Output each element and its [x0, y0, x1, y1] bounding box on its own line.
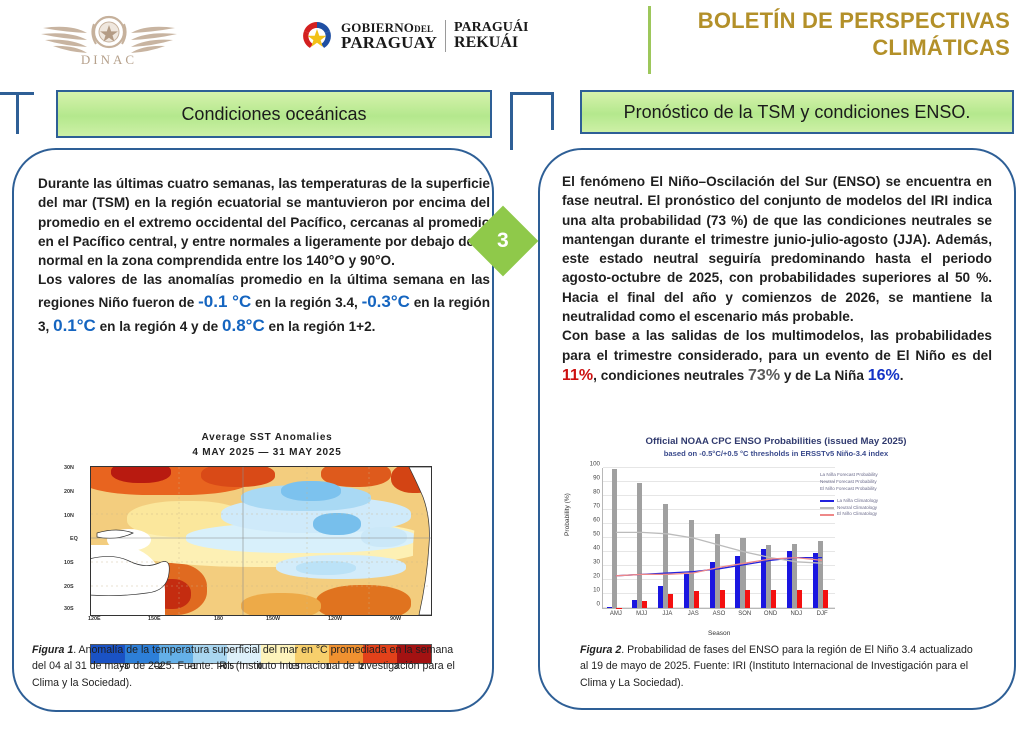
enso-forecast-text: El fenómeno El Niño–Oscilación del Sur (… [562, 172, 992, 388]
ytick-70: 70 [593, 503, 600, 510]
bar-SON-el-nino [745, 590, 750, 608]
sst-anomaly-field [90, 466, 432, 616]
gridline-90 [603, 481, 835, 482]
legend-neutral-clim-row: Neutral Climatology [820, 505, 980, 512]
section-banner-forecast-label: Pronóstico de la TSM y condiciones ENSO. [624, 102, 971, 123]
enso-forecast-panel: El fenómeno El Niño–Oscilación del Sur (… [538, 148, 1016, 710]
sst-xtick-120W: 120W [328, 616, 342, 622]
ytick-90: 90 [593, 475, 600, 482]
legend-el-nino-clim-row: El Niño Climatology [820, 511, 980, 518]
enso-chart-title: Official NOAA CPC ENSO Probabilities (is… [558, 436, 994, 447]
gobierno-line2: PARAGUAY [341, 34, 437, 51]
xtick-JAS: JAS [688, 611, 699, 617]
sst-xtick-90W: 90W [390, 616, 401, 622]
enso-p2-seg-d: . [900, 368, 904, 383]
legend-neutral-clim-swatch [820, 507, 834, 508]
sst-ytick-30S: 30S [64, 606, 74, 612]
figure-2-caption: Figura 2. Probabilidad de fases del ENSO… [580, 642, 980, 691]
prob-neutral: 73% [748, 367, 780, 384]
gridline-100 [603, 467, 835, 468]
legend-neutral-clim: Neutral Climatology [837, 505, 877, 512]
xtick-SON: SON [738, 611, 751, 617]
ytick-40: 40 [593, 545, 600, 552]
title-accent-rule [648, 6, 651, 74]
logo-divider [445, 20, 446, 52]
bracket-connector-left [0, 92, 34, 134]
enso-chart-ylabel: Probability (%) [564, 493, 571, 536]
ytick-100: 100 [590, 461, 600, 468]
figure-1-caption: Figura 1. Anomalía de la temperatura sup… [32, 642, 462, 691]
bar-JJA-neutral [663, 504, 668, 608]
oceanic-p2-seg-b: en la región 3.4, [251, 295, 361, 310]
sst-ytick-10N: 10N [64, 513, 74, 519]
bar-JJA-el-nino [668, 594, 673, 608]
sst-map-title-line2: 4 MAY 2025 — 31 MAY 2025 [62, 445, 472, 460]
xtick-DJF: DJF [817, 611, 828, 617]
prob-el-nino: 11% [562, 367, 593, 384]
bar-NDJ-el-nino [797, 590, 802, 608]
figure-enso-probabilities-chart: Official NOAA CPC ENSO Probabilities (is… [558, 436, 994, 664]
legend-la-nina-clim: La Niña Climatology [837, 498, 878, 505]
sst-xtick-150W: 150W [266, 616, 280, 622]
xtick-OND: OND [764, 611, 777, 617]
paraguay-emblem-icon [300, 19, 334, 53]
legend-climatology-group: La Niña Climatology Neutral Climatology … [820, 498, 980, 519]
paraguai-line2: REKUÁI [454, 35, 528, 51]
dinac-wings-icon [39, 10, 179, 56]
section-banner-oceanic-label: Condiciones oceánicas [181, 104, 366, 125]
ytick-80: 80 [593, 489, 600, 496]
enso-chart-plot-area: 1009080706050403020100AMJMJJJJAJASASOSON… [602, 468, 835, 609]
ytick-0: 0 [597, 601, 600, 608]
sst-map-wrapper: 30N 20N 10N EQ 10S 20S 30S 120E 150E 180… [62, 466, 472, 616]
legend-la-nina-clim-row: La Niña Climatology [820, 498, 980, 505]
enso-p2-seg-c: y de La Niña [780, 368, 868, 383]
section-banner-oceanic[interactable]: Condiciones oceánicas [56, 90, 492, 138]
anomaly-value-region4: 0.1°C [53, 316, 96, 335]
paraguai-wordmark: PARAGUÁI REKUÁI [454, 21, 528, 51]
bracket-connector-right [510, 92, 558, 134]
sst-xtick-180: 180 [214, 616, 223, 622]
ytick-10: 10 [593, 587, 600, 594]
sst-ytick-20S: 20S [64, 584, 74, 590]
oceanic-conditions-text: Durante las últimas cuatro semanas, las … [38, 174, 490, 338]
enso-chart-legend: La Niña Forecast Probability Neutral For… [820, 472, 980, 518]
bar-AMJ-neutral [612, 469, 617, 608]
bar-OND-el-nino [771, 590, 776, 608]
bar-MJJ-neutral [637, 483, 642, 608]
page-header: DINAC GOBIERNODEL PARAGUAY PA [0, 0, 1024, 88]
gobierno-wordmark: GOBIERNODEL PARAGUAY [341, 21, 437, 51]
oceanic-paragraph-2: Los valores de las anomalías promedio en… [38, 270, 490, 338]
oceanic-conditions-panel: Durante las últimas cuatro semanas, las … [12, 148, 494, 712]
enso-paragraph-2: Con base a las salidas de los multimodel… [562, 326, 992, 387]
bar-ASO-el-nino [720, 590, 725, 608]
section-banner-forecast[interactable]: Pronóstico de la TSM y condiciones ENSO. [580, 90, 1014, 134]
sst-ytick-10S: 10S [64, 560, 74, 566]
xtick-NDJ: NDJ [790, 611, 802, 617]
ytick-20: 20 [593, 573, 600, 580]
legend-forecast-group: La Niña Forecast Probability Neutral For… [820, 472, 980, 493]
enso-chart-xlabel: Season [708, 630, 730, 637]
bar-DJF-el-nino [823, 590, 828, 608]
bar-JAS-el-nino [694, 591, 699, 608]
sst-ytick-EQ: EQ [70, 536, 78, 542]
sst-xtick-120E: 120E [88, 616, 101, 622]
enso-chart-subtitle: based on -0.5°C/+0.5 °C thresholds in ER… [558, 449, 994, 458]
bulletin-title-block: BOLETÍN DE PERSPECTIVAS CLIMÁTICAS [648, 4, 1010, 78]
page-number-badge-label: 3 [497, 229, 509, 253]
legend-el-nino-clim-swatch [820, 514, 834, 515]
figure-sst-anomaly-map: Average SST Anomalies 4 MAY 2025 — 31 MA… [62, 430, 472, 662]
anomaly-value-region34: -0.1 °C [198, 292, 251, 311]
xtick-ASO: ASO [713, 611, 726, 617]
anomaly-value-region3: -0.3°C [362, 292, 410, 311]
ytick-50: 50 [593, 531, 600, 538]
anomaly-value-region12: 0.8°C [222, 316, 265, 335]
bar-MJJ-el-nino [642, 601, 647, 608]
legend-el-nino-forecast: El Niño Forecast Probability [820, 486, 980, 493]
ytick-60: 60 [593, 517, 600, 524]
bar-AMJ-el-nino [616, 608, 621, 609]
page-title: BOLETÍN DE PERSPECTIVAS CLIMÁTICAS [666, 8, 1010, 62]
figure-1-caption-text: . Anomalía de la temperatura superficial… [32, 644, 455, 689]
sst-map-title: Average SST Anomalies 4 MAY 2025 — 31 MA… [62, 430, 472, 460]
sst-ytick-30N: 30N [64, 465, 74, 471]
sst-map-title-line1: Average SST Anomalies [62, 430, 472, 445]
xtick-AMJ: AMJ [610, 611, 622, 617]
figure-2-caption-text: . Probabilidad de fases del ENSO para la… [580, 644, 973, 689]
xtick-MJJ: MJJ [636, 611, 647, 617]
sst-ytick-20N: 20N [64, 489, 74, 495]
enso-paragraph-1: El fenómeno El Niño–Oscilación del Sur (… [562, 172, 992, 326]
legend-neutral-forecast: Neutral Forecast Probability [820, 479, 980, 486]
enso-p2-seg-b: , condiciones neutrales [593, 368, 748, 383]
sst-xtick-150E: 150E [148, 616, 161, 622]
figure-2-caption-label: Figura 2 [580, 644, 621, 656]
dinac-logo: DINAC [36, 2, 182, 76]
ytick-30: 30 [593, 559, 600, 566]
oceanic-p2-seg-e: en la región 1+2. [265, 319, 376, 334]
legend-la-nina-forecast: La Niña Forecast Probability [820, 472, 980, 479]
oceanic-p2-seg-d: en la región 4 y de [96, 319, 222, 334]
paraguai-line1: PARAGUÁI [454, 21, 528, 35]
legend-el-nino-clim: El Niño Climatology [837, 511, 877, 518]
gobierno-paraguay-logo: GOBIERNODEL PARAGUAY PARAGUÁI REKUÁI [300, 14, 528, 58]
oceanic-paragraph-1: Durante las últimas cuatro semanas, las … [38, 174, 490, 270]
enso-p2-seg-a: Con base a las salidas de los multimodel… [562, 328, 992, 362]
legend-la-nina-clim-swatch [820, 500, 834, 501]
prob-la-nina: 16% [868, 367, 900, 384]
xtick-JJA: JJA [662, 611, 672, 617]
figure-1-caption-label: Figura 1 [32, 644, 73, 656]
